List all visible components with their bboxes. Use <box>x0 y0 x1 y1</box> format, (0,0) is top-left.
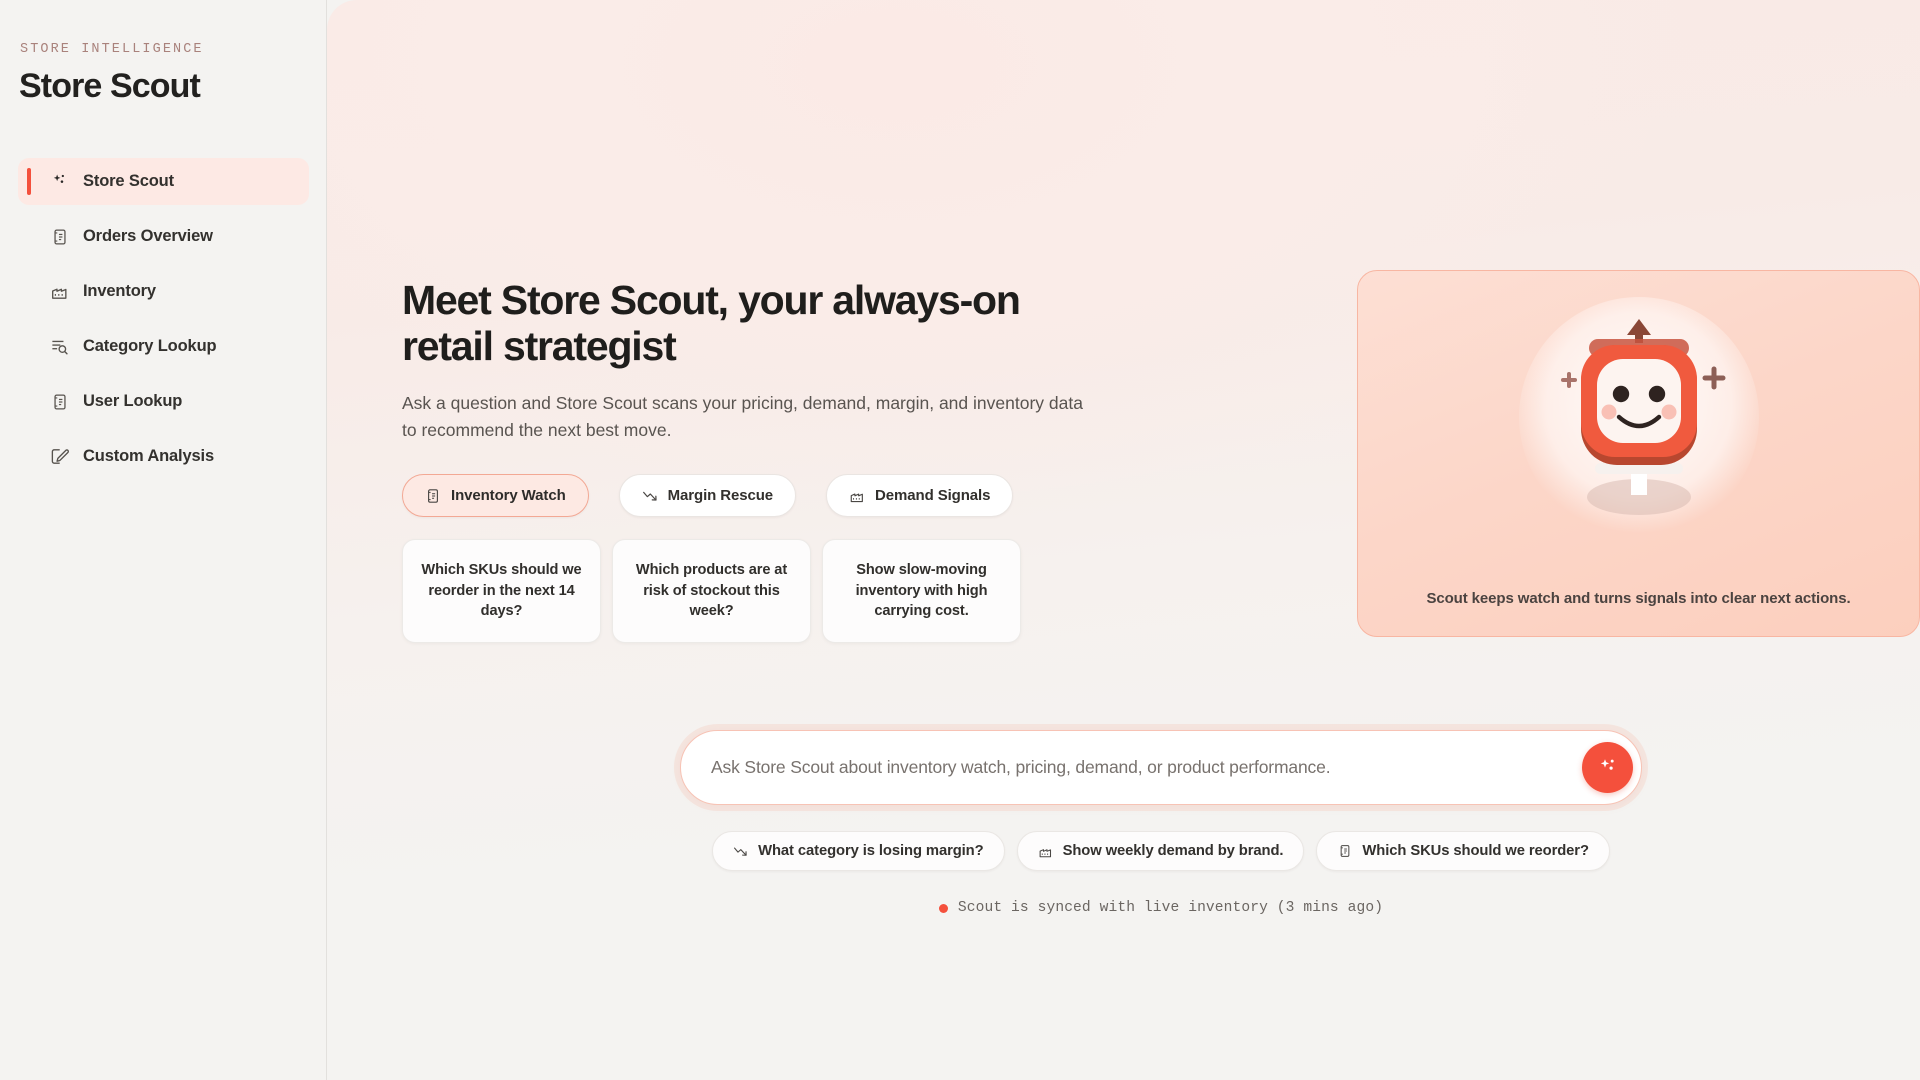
prompt-card[interactable]: Which products are at risk of stockout t… <box>612 539 811 643</box>
suggestion-pill-reorder-skus[interactable]: Which SKUs should we reorder? <box>1316 831 1609 871</box>
app-root: STORE INTELLIGENCE Store Scout Store Sco… <box>0 0 1920 1080</box>
prompt-card-row: Which SKUs should we reorder in the next… <box>402 539 1162 643</box>
pill-label: Show weekly demand by brand. <box>1063 843 1284 859</box>
content-area: Meet Store Scout, your always-on retail … <box>402 0 1920 1080</box>
sidebar-item-inventory[interactable]: Inventory <box>18 268 309 315</box>
bar-chart-icon <box>1038 844 1053 859</box>
category-chip-row: Inventory Watch Margin Rescue Demand Sig… <box>402 474 1162 517</box>
robot-mascot-icon <box>1519 301 1759 556</box>
hero-section: Meet Store Scout, your always-on retail … <box>402 270 1920 643</box>
bar-chart-icon <box>50 282 69 301</box>
brand-title: Store Scout <box>18 67 309 106</box>
sidebar-item-category-lookup[interactable]: Category Lookup <box>18 323 309 370</box>
mascot-panel: Scout keeps watch and turns signals into… <box>1357 270 1920 637</box>
sidebar-nav: Store Scout Orders Overview Inventory Ca… <box>18 158 309 480</box>
chip-label: Demand Signals <box>875 487 990 504</box>
sidebar-item-custom-analysis[interactable]: Custom Analysis <box>18 433 309 480</box>
status-text: Scout is synced with live inventory (3 m… <box>958 900 1383 916</box>
sparkle-icon <box>50 172 69 191</box>
prompt-card-text: Which SKUs should we reorder in the next… <box>421 560 582 622</box>
bar-chart-icon <box>849 488 865 504</box>
document-icon <box>50 392 69 411</box>
document-icon <box>425 488 441 504</box>
sidebar: STORE INTELLIGENCE Store Scout Store Sco… <box>0 0 327 1080</box>
sidebar-item-orders-overview[interactable]: Orders Overview <box>18 213 309 260</box>
suggestion-pill-weekly-demand[interactable]: Show weekly demand by brand. <box>1017 831 1305 871</box>
list-search-icon <box>50 337 69 356</box>
main-panel: Meet Store Scout, your always-on retail … <box>327 0 1920 1080</box>
sidebar-item-label: Category Lookup <box>83 337 216 356</box>
brand-kicker: STORE INTELLIGENCE <box>18 42 309 57</box>
chip-inventory-watch[interactable]: Inventory Watch <box>402 474 589 517</box>
suggestion-pill-losing-margin[interactable]: What category is losing margin? <box>712 831 1004 871</box>
prompt-card[interactable]: Which SKUs should we reorder in the next… <box>402 539 601 643</box>
ask-section: What category is losing margin? Show wee… <box>402 730 1920 916</box>
prompt-card-text: Show slow-moving inventory with high car… <box>841 560 1002 622</box>
sidebar-item-label: Custom Analysis <box>83 447 214 466</box>
document-icon <box>50 227 69 246</box>
chip-label: Margin Rescue <box>668 487 773 504</box>
page-subtitle: Ask a question and Store Scout scans you… <box>402 390 1092 444</box>
page-title: Meet Store Scout, your always-on retail … <box>402 278 1102 370</box>
sidebar-item-label: User Lookup <box>83 392 182 411</box>
prompt-card[interactable]: Show slow-moving inventory with high car… <box>822 539 1021 643</box>
suggestion-pill-row: What category is losing margin? Show wee… <box>712 831 1610 871</box>
ask-bar[interactable] <box>680 730 1642 805</box>
sidebar-item-label: Inventory <box>83 282 156 301</box>
hero-left-column: Meet Store Scout, your always-on retail … <box>402 270 1162 643</box>
prompt-card-text: Which products are at risk of stockout t… <box>631 560 792 622</box>
chip-label: Inventory Watch <box>451 487 566 504</box>
mascot-caption: Scout keeps watch and turns signals into… <box>1358 588 1919 611</box>
sidebar-item-label: Orders Overview <box>83 227 213 246</box>
document-icon <box>1337 844 1352 859</box>
send-button[interactable] <box>1582 742 1633 793</box>
trend-down-icon <box>642 488 658 504</box>
chip-demand-signals[interactable]: Demand Signals <box>826 474 1013 517</box>
status-badge: Scout is synced with live inventory (3 m… <box>939 900 1383 916</box>
chip-margin-rescue[interactable]: Margin Rescue <box>619 474 796 517</box>
sidebar-item-user-lookup[interactable]: User Lookup <box>18 378 309 425</box>
sidebar-item-label: Store Scout <box>83 172 174 191</box>
pencil-square-icon <box>50 447 69 466</box>
pill-label: Which SKUs should we reorder? <box>1362 843 1588 859</box>
search-input[interactable] <box>711 757 1582 778</box>
pill-label: What category is losing margin? <box>758 843 983 859</box>
sidebar-item-store-scout[interactable]: Store Scout <box>18 158 309 205</box>
trend-down-icon <box>733 844 748 859</box>
status-dot-icon <box>939 904 948 913</box>
sparkle-icon <box>1596 756 1620 780</box>
